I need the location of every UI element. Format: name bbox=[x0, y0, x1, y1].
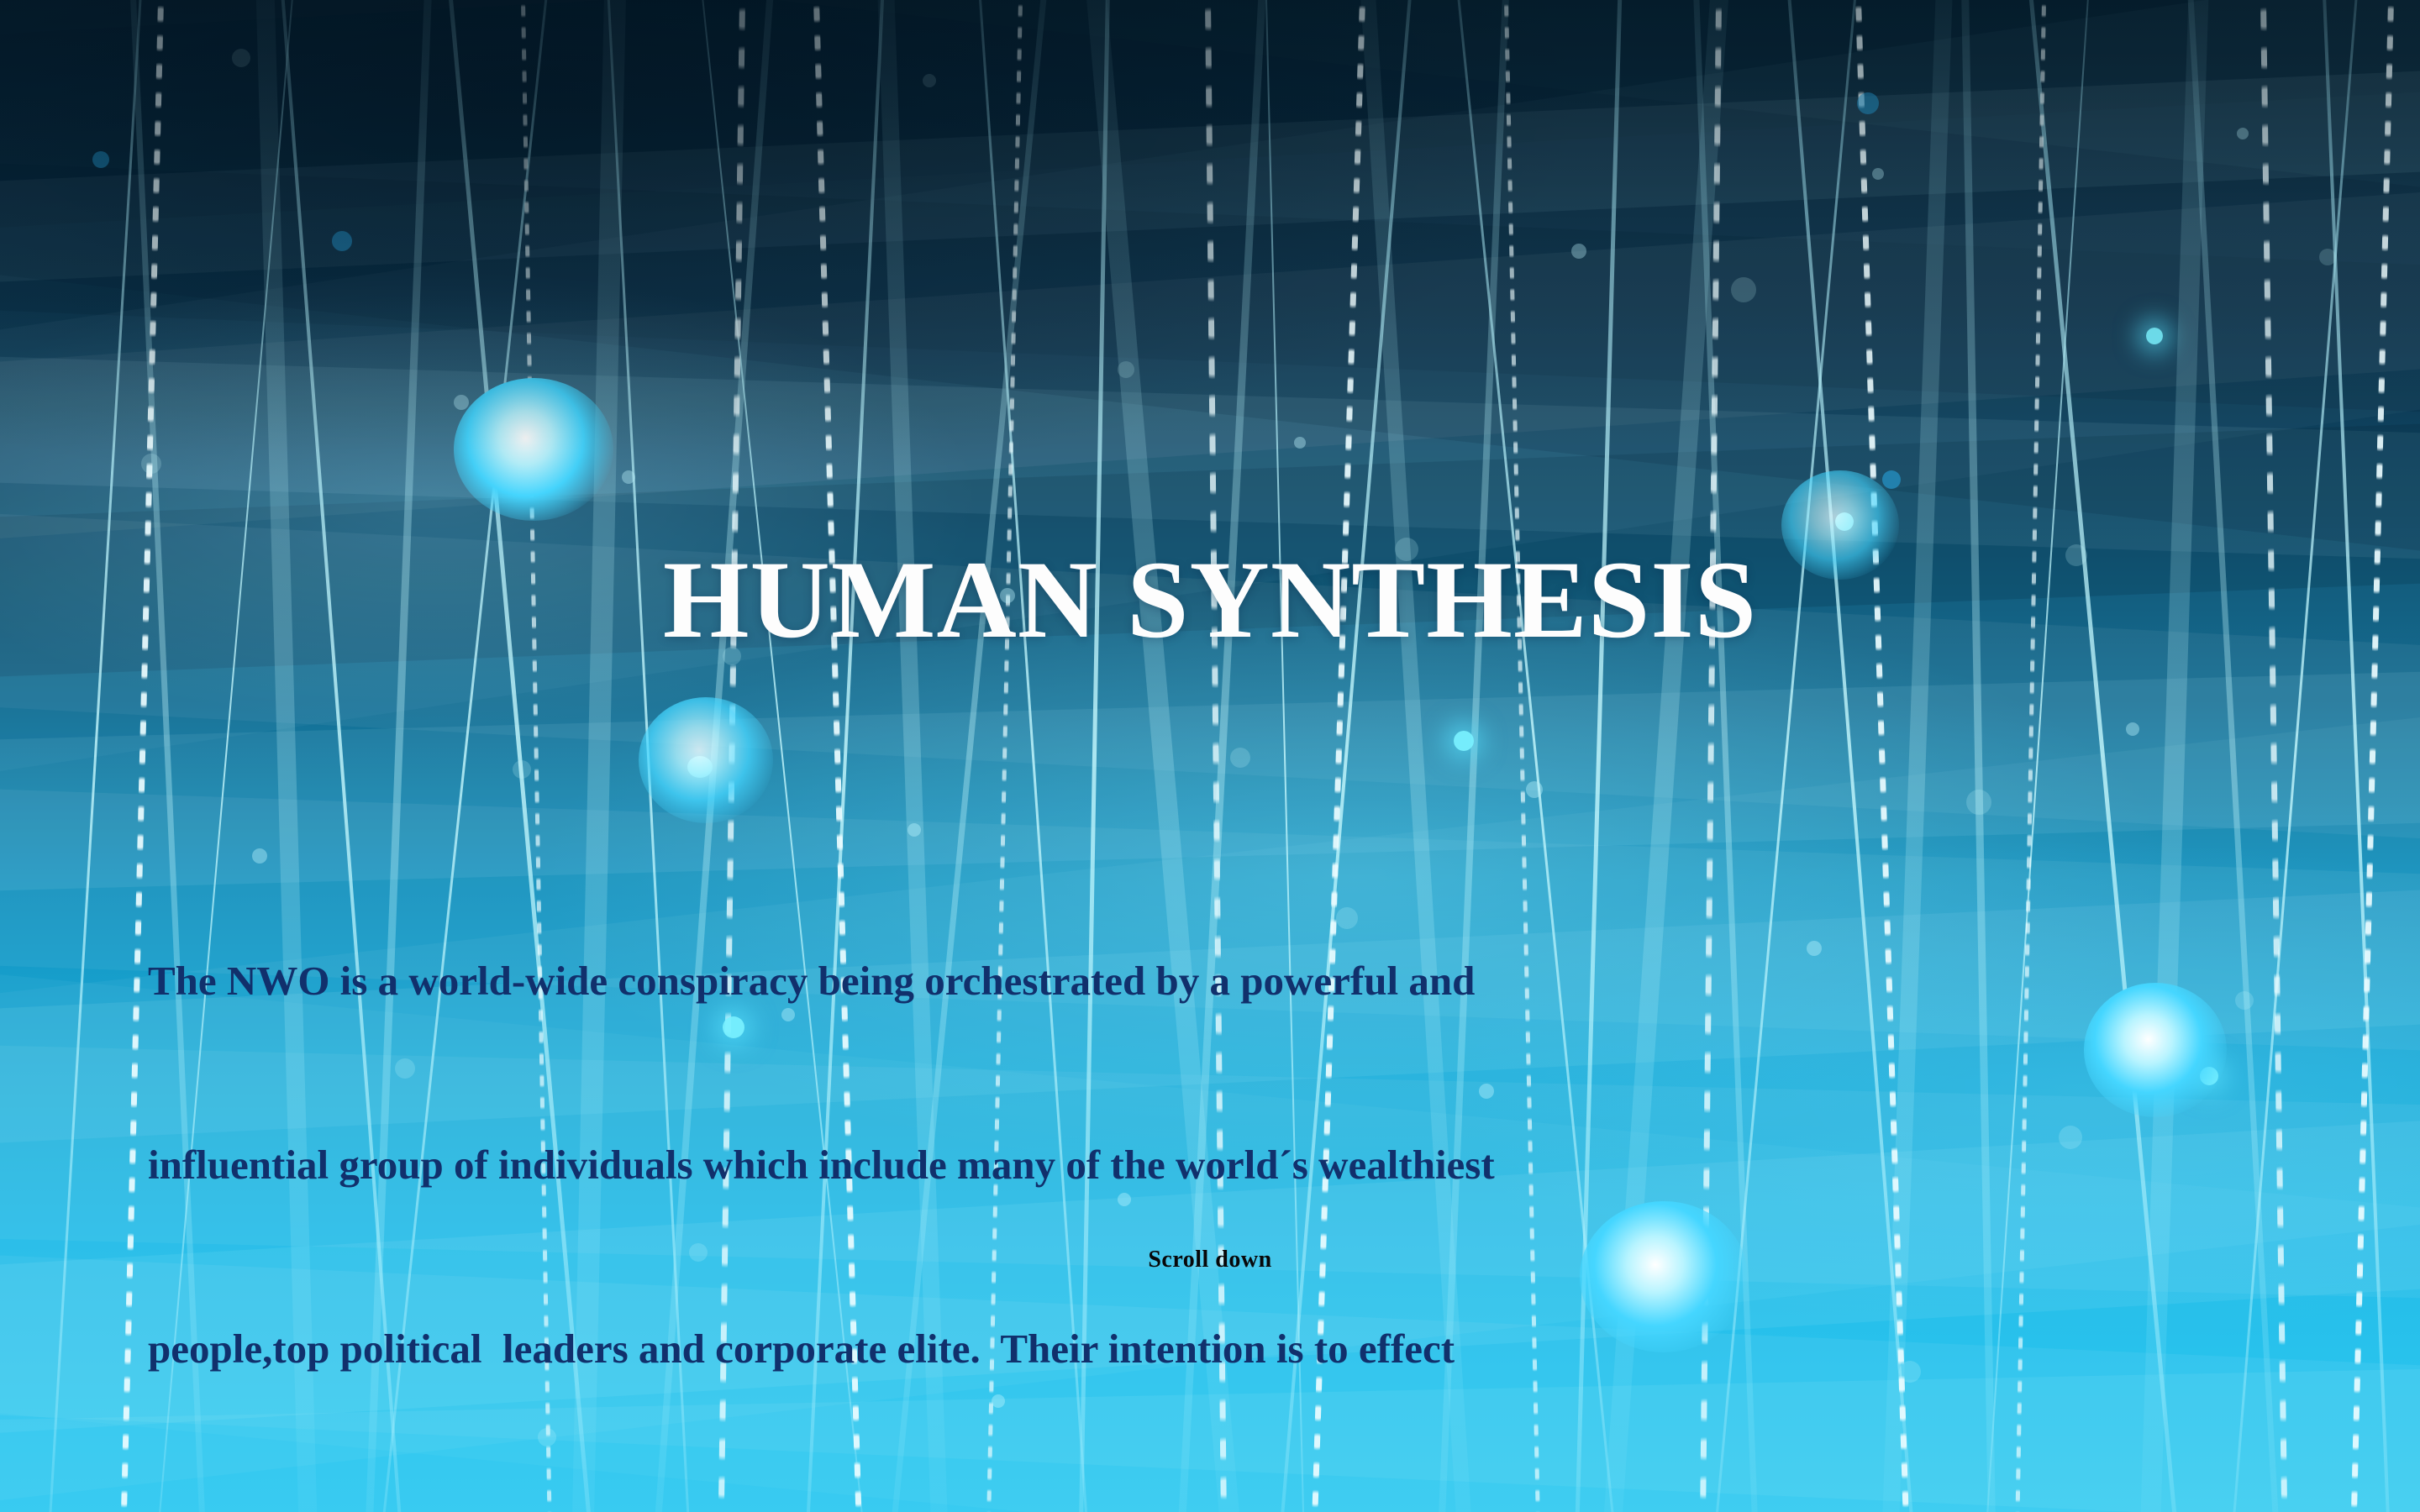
intro-line: people,top political leaders and corpora… bbox=[148, 1318, 2333, 1379]
page-title: HUMAN SYNTHESIS bbox=[0, 544, 2420, 655]
hero-banner: HUMAN SYNTHESIS The NWO is a world-wide … bbox=[0, 0, 2420, 1512]
intro-line: influential group of individuals which i… bbox=[148, 1134, 2333, 1195]
intro-line: The NWO is a world-wide conspiracy being… bbox=[148, 950, 2333, 1011]
hero-content: HUMAN SYNTHESIS The NWO is a world-wide … bbox=[0, 0, 2420, 1512]
scroll-down-hint[interactable]: Scroll down bbox=[0, 1247, 2420, 1273]
intro-paragraph: The NWO is a world-wide conspiracy being… bbox=[148, 827, 2333, 1512]
intro-line: complete and total control over every hu… bbox=[148, 1502, 2333, 1512]
